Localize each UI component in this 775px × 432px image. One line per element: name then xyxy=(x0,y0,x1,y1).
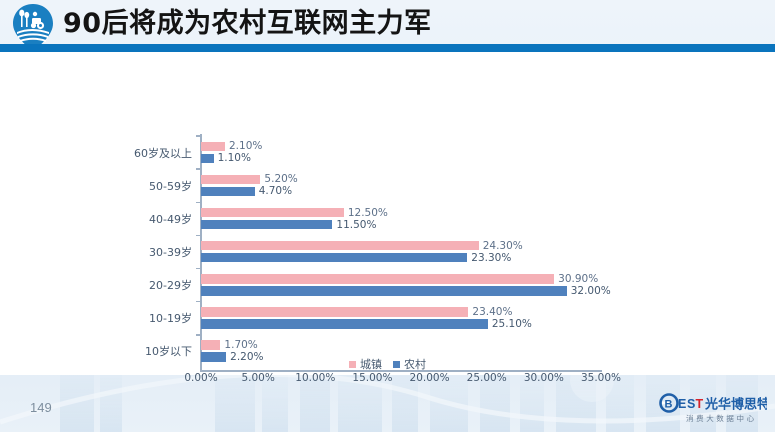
legend-item[interactable]: 城镇 xyxy=(349,356,382,372)
y-axis-tick-label: 50-59岁 xyxy=(149,178,192,194)
y-axis-tick-mark xyxy=(196,334,201,336)
bar-value-label: 2.10% xyxy=(229,140,262,152)
brand-logo: B E S T 光华博思特 消费大数据中心 xyxy=(659,392,767,426)
slide-header: 90后将成为农村互联网主力军 xyxy=(0,0,775,52)
slide-canvas: 90后将成为农村互联网主力军 60岁及以上2.10%1.10%50-59岁5.2… xyxy=(0,0,775,432)
bar-value-label: 23.40% xyxy=(472,306,512,318)
x-axis-tick-label: 0.00% xyxy=(184,372,217,384)
bar-value-label: 23.30% xyxy=(471,252,511,264)
y-axis-tick-label: 10-19岁 xyxy=(149,310,192,326)
legend-label: 城镇 xyxy=(360,356,382,372)
svg-text:B: B xyxy=(665,399,673,411)
legend-item[interactable]: 农村 xyxy=(393,356,426,372)
bar-chart-plot-area: 60岁及以上2.10%1.10%50-59岁5.20%4.70%40-49岁12… xyxy=(201,136,601,368)
svg-text:消费大数据中心: 消费大数据中心 xyxy=(686,413,757,423)
page-title: 90后将成为农村互联网主力军 xyxy=(63,6,432,42)
bar-urban: 5.20% xyxy=(201,175,260,185)
y-axis-tick-label: 60岁及以上 xyxy=(134,145,192,161)
bar-rural: 25.10% xyxy=(201,319,488,329)
bar-value-label: 32.00% xyxy=(571,285,611,297)
y-axis-tick-mark xyxy=(196,301,201,303)
bar-value-label: 1.10% xyxy=(218,152,251,164)
x-axis-tick-label: 35.00% xyxy=(581,372,621,384)
chart-category-row: 30-39岁24.30%23.30% xyxy=(201,235,601,268)
bar-value-label: 5.20% xyxy=(264,173,297,185)
bar-urban: 1.70% xyxy=(201,340,220,350)
bar-value-label: 24.30% xyxy=(483,240,523,252)
bar-value-label: 11.50% xyxy=(336,219,376,231)
header-accent-bar xyxy=(0,44,775,52)
bar-rural: 32.00% xyxy=(201,286,567,296)
bar-value-label: 12.50% xyxy=(348,207,388,219)
page-number: 149 xyxy=(30,400,52,415)
y-axis-tick-mark xyxy=(196,235,201,237)
chart-category-row: 40-49岁12.50%11.50% xyxy=(201,202,601,235)
y-axis-tick-mark xyxy=(196,268,201,270)
svg-text:T: T xyxy=(696,397,704,411)
x-axis-tick-label: 20.00% xyxy=(410,372,450,384)
y-axis-tick-mark xyxy=(196,202,201,204)
y-axis-tick-mark xyxy=(196,135,201,137)
legend-swatch xyxy=(393,361,400,368)
legend-swatch xyxy=(349,361,356,368)
chart-legend: 城镇农村 xyxy=(0,356,775,372)
bar-rural: 1.10% xyxy=(201,154,214,164)
svg-text:E: E xyxy=(678,397,686,411)
x-axis-tick-label: 15.00% xyxy=(352,372,392,384)
bar-rural: 11.50% xyxy=(201,220,332,230)
bar-rural: 23.30% xyxy=(201,253,467,263)
x-axis-tick-label: 5.00% xyxy=(241,372,274,384)
chart-category-row: 10-19岁23.40%25.10% xyxy=(201,302,601,335)
y-axis-tick-label: 40-49岁 xyxy=(149,211,192,227)
x-axis-tick-label: 25.00% xyxy=(467,372,507,384)
bar-urban: 24.30% xyxy=(201,241,479,251)
bar-value-label: 25.10% xyxy=(492,318,532,330)
bar-value-label: 4.70% xyxy=(259,185,292,197)
bar-urban: 30.90% xyxy=(201,274,554,284)
bar-urban: 2.10% xyxy=(201,142,225,152)
bar-urban: 23.40% xyxy=(201,307,468,317)
svg-text:S: S xyxy=(687,397,695,411)
svg-text:光华博思特: 光华博思特 xyxy=(704,397,767,413)
chart-category-row: 60岁及以上2.10%1.10% xyxy=(201,136,601,169)
y-axis-tick-mark xyxy=(196,168,201,170)
y-axis-tick-label: 20-29岁 xyxy=(149,277,192,293)
chart-category-row: 50-59岁5.20%4.70% xyxy=(201,169,601,202)
bar-rural: 4.70% xyxy=(201,187,255,197)
bar-value-label: 30.90% xyxy=(558,273,598,285)
x-axis-tick-label: 30.00% xyxy=(524,372,564,384)
y-axis-tick-label: 30-39岁 xyxy=(149,244,192,260)
chart-category-row: 20-29岁30.90%32.00% xyxy=(201,269,601,302)
x-axis-tick-label: 10.00% xyxy=(295,372,335,384)
bar-value-label: 1.70% xyxy=(224,339,257,351)
legend-label: 农村 xyxy=(404,356,426,372)
bar-urban: 12.50% xyxy=(201,208,344,218)
chart-panel: 60岁及以上2.10%1.10%50-59岁5.20%4.70%40-49岁12… xyxy=(0,52,775,375)
